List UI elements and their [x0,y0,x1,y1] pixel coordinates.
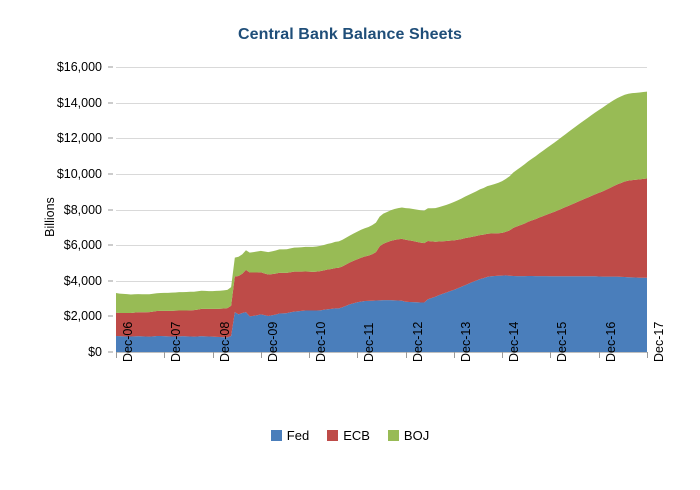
y-axis-label: $14,000 [0,96,112,110]
x-axis-tick [357,352,358,358]
x-axis-tick [599,352,600,358]
y-axis-label: $16,000 [0,60,112,74]
x-axis-tick [454,352,455,358]
y-axis-tick [108,138,113,139]
x-axis-label: Dec-14 [507,322,521,362]
legend-swatch-icon [388,430,399,441]
x-axis-label: Dec-17 [652,322,666,362]
chart-container: Central Bank Balance Sheets $0$2,000$4,0… [0,0,700,490]
legend-item-ecb[interactable]: ECB [327,428,370,443]
y-axis-title: Billions [43,157,57,277]
legend-item-fed[interactable]: Fed [271,428,309,443]
x-axis-tick [309,352,310,358]
legend-swatch-icon [271,430,282,441]
x-axis-tick [164,352,165,358]
legend-label: ECB [343,428,370,443]
plot-area [116,67,647,352]
legend-label: Fed [287,428,309,443]
x-axis-tick [213,352,214,358]
stacked-area-series [116,67,647,352]
y-axis-tick [108,209,113,210]
x-axis-label: Dec-15 [555,322,569,362]
x-axis-label: Dec-16 [604,322,618,362]
chart-legend: FedECBBOJ [0,428,700,443]
x-axis-label: Dec-11 [362,323,376,362]
y-axis-tick [108,67,113,68]
x-axis-tick [647,352,648,358]
x-axis-label: Dec-06 [121,322,135,362]
y-axis-tick [108,316,113,317]
x-axis-tick [116,352,117,358]
x-axis: Dec-06Dec-07Dec-08Dec-09Dec-10Dec-11Dec-… [0,352,700,432]
x-axis-tick [406,352,407,358]
x-axis-label: Dec-07 [169,322,183,362]
y-axis-tick [108,280,113,281]
legend-swatch-icon [327,430,338,441]
legend-item-boj[interactable]: BOJ [388,428,429,443]
x-axis-tick [550,352,551,358]
y-axis-tick [108,173,113,174]
y-axis-tick [108,102,113,103]
x-axis-label: Dec-10 [314,322,328,362]
x-axis-tick [261,352,262,358]
y-axis-tick [108,245,113,246]
x-axis-label: Dec-12 [411,322,425,362]
y-axis-label: $2,000 [0,309,112,323]
legend-label: BOJ [404,428,429,443]
x-axis-label: Dec-09 [266,322,280,362]
x-axis-label: Dec-08 [218,322,232,362]
y-axis-label: $12,000 [0,131,112,145]
x-axis-label: Dec-13 [459,322,473,362]
x-axis-tick [502,352,503,358]
